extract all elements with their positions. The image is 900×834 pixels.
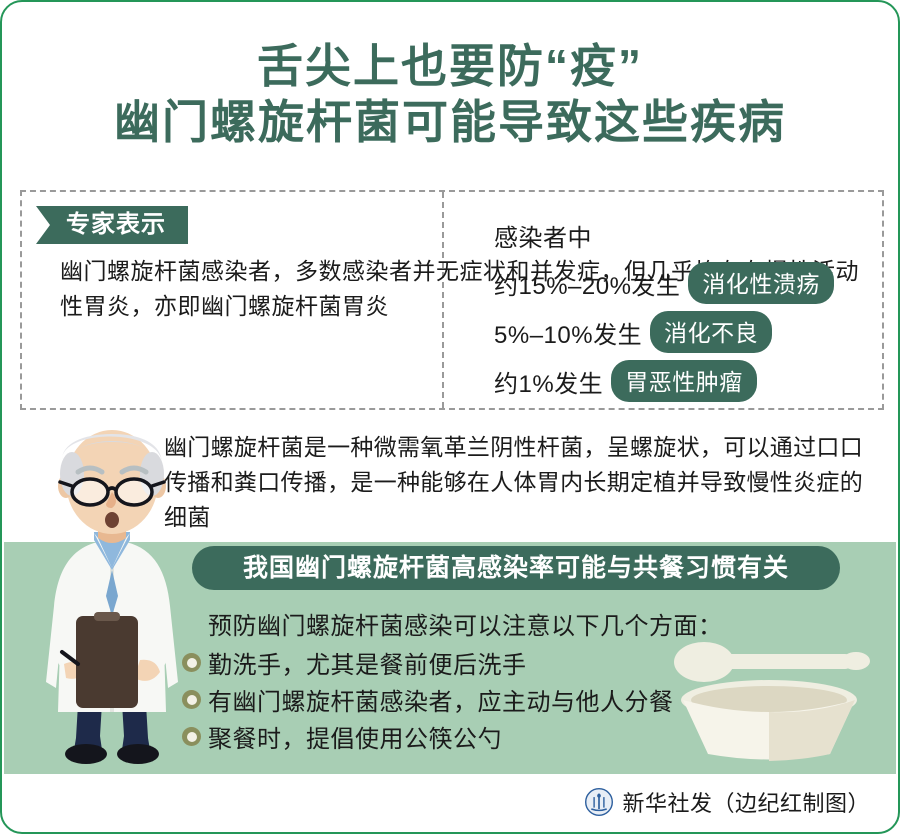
statistic-label: 约1%发生 [494, 364, 603, 399]
statistic-badge: 胃恶性肿瘤 [611, 360, 757, 402]
list-item-label: 有幽门螺旋杆菌感染者，应主动与他人分餐 [208, 682, 674, 717]
highlight-banner: 我国幽门螺旋杆菌高感染率可能与共餐习惯有关 [192, 546, 840, 590]
page-title: 舌尖上也要防“疫” 幽门螺旋杆菌可能导致这些疾病 [2, 38, 898, 150]
list-item-label: 勤洗手，尤其是餐前便后洗手 [208, 645, 527, 680]
list-item-label: 聚餐时，提倡使用公筷公勺 [208, 719, 502, 754]
title-line-1: 舌尖上也要防“疫” [2, 38, 898, 94]
bowl-and-spoon-illustration [664, 634, 874, 764]
statistic-label: 5%–10%发生 [494, 315, 642, 350]
info-box: 专家表示 幽门螺旋杆菌感染者，多数感染者并无症状和并发症，但几乎均存在慢性活动性… [20, 190, 884, 410]
doctor-illustration [24, 420, 200, 774]
statistic-badge: 消化性溃疡 [688, 262, 834, 304]
expert-ribbon-label: 专家表示 [36, 206, 188, 244]
statistic-row: 约1%发生 胃恶性肿瘤 [494, 360, 882, 402]
xinhua-logo-icon [585, 788, 613, 816]
statistic-label: 约15%–20%发生 [494, 266, 680, 301]
statistics-pane: 感染者中 约15%–20%发生 消化性溃疡 5%–10%发生 消化不良 约1%发… [462, 206, 882, 408]
footer-credit-text: 新华社发（边纪红制图） [622, 786, 870, 818]
statistic-row: 约15%–20%发生 消化性溃疡 [494, 262, 882, 304]
footer-credit: 新华社发（边纪红制图） [585, 786, 870, 818]
statistics-heading: 感染者中 [494, 218, 882, 253]
statistic-row: 5%–10%发生 消化不良 [494, 311, 882, 353]
infographic-poster: 舌尖上也要防“疫” 幽门螺旋杆菌可能导致这些疾病 专家表示 幽门螺旋杆菌感染者，… [0, 0, 900, 834]
statistic-badge: 消化不良 [650, 311, 772, 353]
title-line-2: 幽门螺旋杆菌可能导致这些疾病 [2, 94, 898, 150]
bacteria-description-text: 幽门螺旋杆菌是一种微需氧革兰阴性杆菌，呈螺旋状，可以通过口口传播和粪口传播，是一… [164, 430, 864, 535]
